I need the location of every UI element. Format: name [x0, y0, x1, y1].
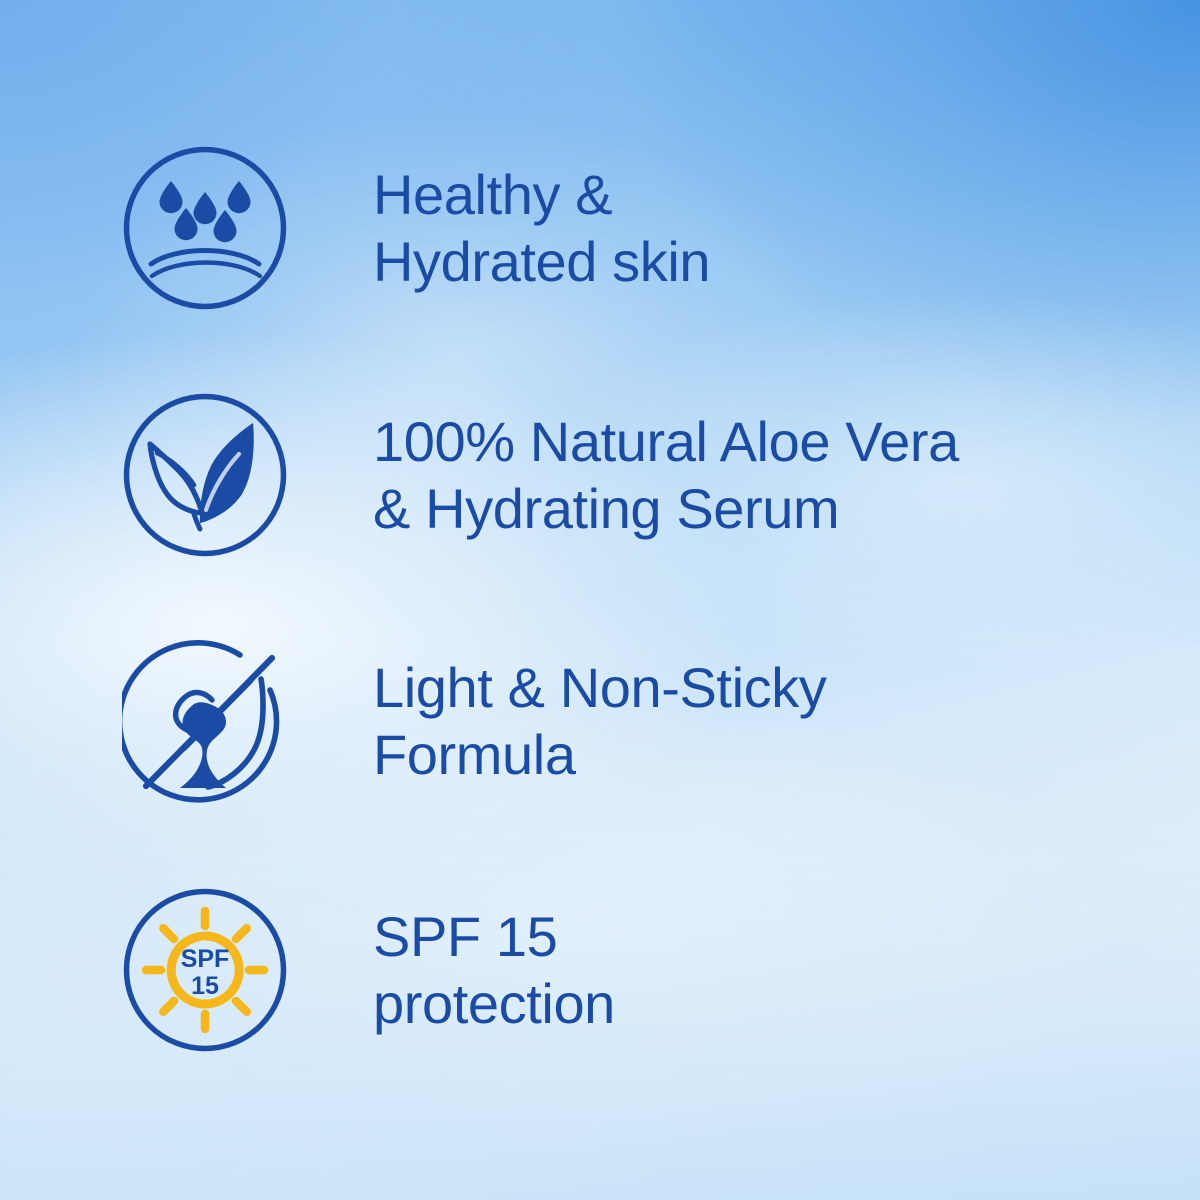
benefit-item-natural-aloe-vera: 100% Natural Aloe Vera & Hydrating Serum: [122, 392, 959, 558]
no-sticky-icon: [122, 638, 288, 804]
spf-sun-icon: SPF 15: [122, 887, 288, 1053]
water-droplets-skin-icon: [122, 145, 288, 311]
benefit-label-light-non-sticky-formula: Light & Non-Sticky Formula: [373, 654, 826, 788]
benefits-list: Healthy & Hydrated skin 100% Natural: [0, 0, 1200, 1200]
promo-canvas: Healthy & Hydrated skin 100% Natural: [0, 0, 1200, 1200]
benefit-label-natural-aloe-vera: 100% Natural Aloe Vera & Hydrating Serum: [373, 408, 959, 542]
benefit-label-healthy-hydrated-skin: Healthy & Hydrated skin: [373, 161, 710, 295]
spf-badge-line1: SPF: [181, 945, 230, 973]
spf-badge-line2: 15: [191, 972, 219, 1000]
benefit-item-healthy-hydrated-skin: Healthy & Hydrated skin: [122, 145, 710, 311]
benefit-item-light-non-sticky-formula: Light & Non-Sticky Formula: [122, 638, 826, 804]
leaf-icon: [122, 392, 288, 558]
benefit-label-spf-15-protection: SPF 15 protection: [373, 903, 615, 1037]
benefit-item-spf-15-protection: SPF 15 SPF 15 protection: [122, 887, 615, 1053]
